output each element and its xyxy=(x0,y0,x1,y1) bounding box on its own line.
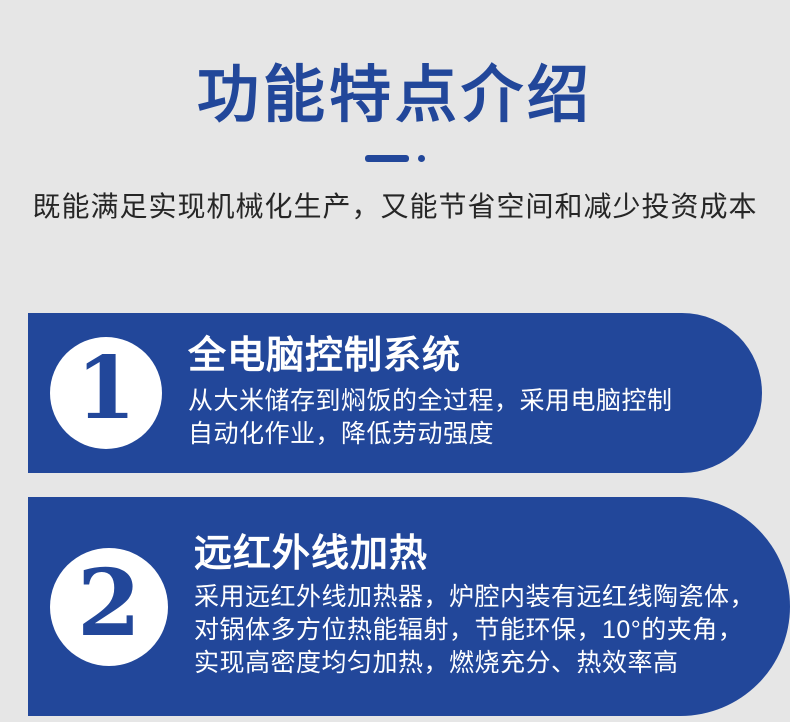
page-subtitle: 既能满足实现机械化生产，又能节省空间和减少投资成本 xyxy=(0,185,790,225)
feature-number-2: 2 xyxy=(77,557,141,649)
bar-dot-divider-icon xyxy=(0,152,790,164)
feature-description-1: 从大米储存到焖饭的全过程，采用电脑控制 自动化作业，降低劳动强度 xyxy=(188,385,673,451)
feature-description-line: 对锅体多方位热能辐射，节能环保，10°的夹角， xyxy=(194,614,755,647)
feature-card-1: 1 全电脑控制系统 从大米储存到焖饭的全过程，采用电脑控制 自动化作业，降低劳动… xyxy=(28,313,762,473)
feature-description-line: 从大米储存到焖饭的全过程，采用电脑控制 xyxy=(188,385,673,418)
feature-heading-2: 远红外线加热 xyxy=(194,533,755,577)
feature-description-line: 采用远红外线加热器，炉腔内装有远红线陶瓷体， xyxy=(194,581,755,614)
feature-card-2: 2 远红外线加热 采用远红外线加热器，炉腔内装有远红线陶瓷体， 对锅体多方位热能… xyxy=(28,497,790,716)
divider-bar xyxy=(365,155,409,162)
divider-dot xyxy=(418,155,425,162)
feature-number-1: 1 xyxy=(76,346,136,432)
feature-description-line: 实现高密度均匀加热，燃烧充分、热效率高 xyxy=(194,647,755,680)
feature-card-list: 1 全电脑控制系统 从大米储存到焖饭的全过程，采用电脑控制 自动化作业，降低劳动… xyxy=(0,313,790,716)
feature-card-body-1: 全电脑控制系统 从大米储存到焖饭的全过程，采用电脑控制 自动化作业，降低劳动强度 xyxy=(188,335,697,451)
feature-card-body-2: 远红外线加热 采用远红外线加热器，炉腔内装有远红线陶瓷体， 对锅体多方位热能辐射… xyxy=(194,533,779,680)
feature-heading-1: 全电脑控制系统 xyxy=(188,335,673,379)
feature-description-2: 采用远红外线加热器，炉腔内装有远红线陶瓷体， 对锅体多方位热能辐射，节能环保，1… xyxy=(194,581,755,680)
page-title: 功能特点介绍 xyxy=(0,62,790,130)
feature-description-line: 自动化作业，降低劳动强度 xyxy=(188,418,673,451)
feature-number-badge-2: 2 xyxy=(50,548,168,666)
feature-number-badge-1: 1 xyxy=(50,337,162,449)
page-header: 功能特点介绍 既能满足实现机械化生产，又能节省空间和减少投资成本 xyxy=(0,0,790,225)
